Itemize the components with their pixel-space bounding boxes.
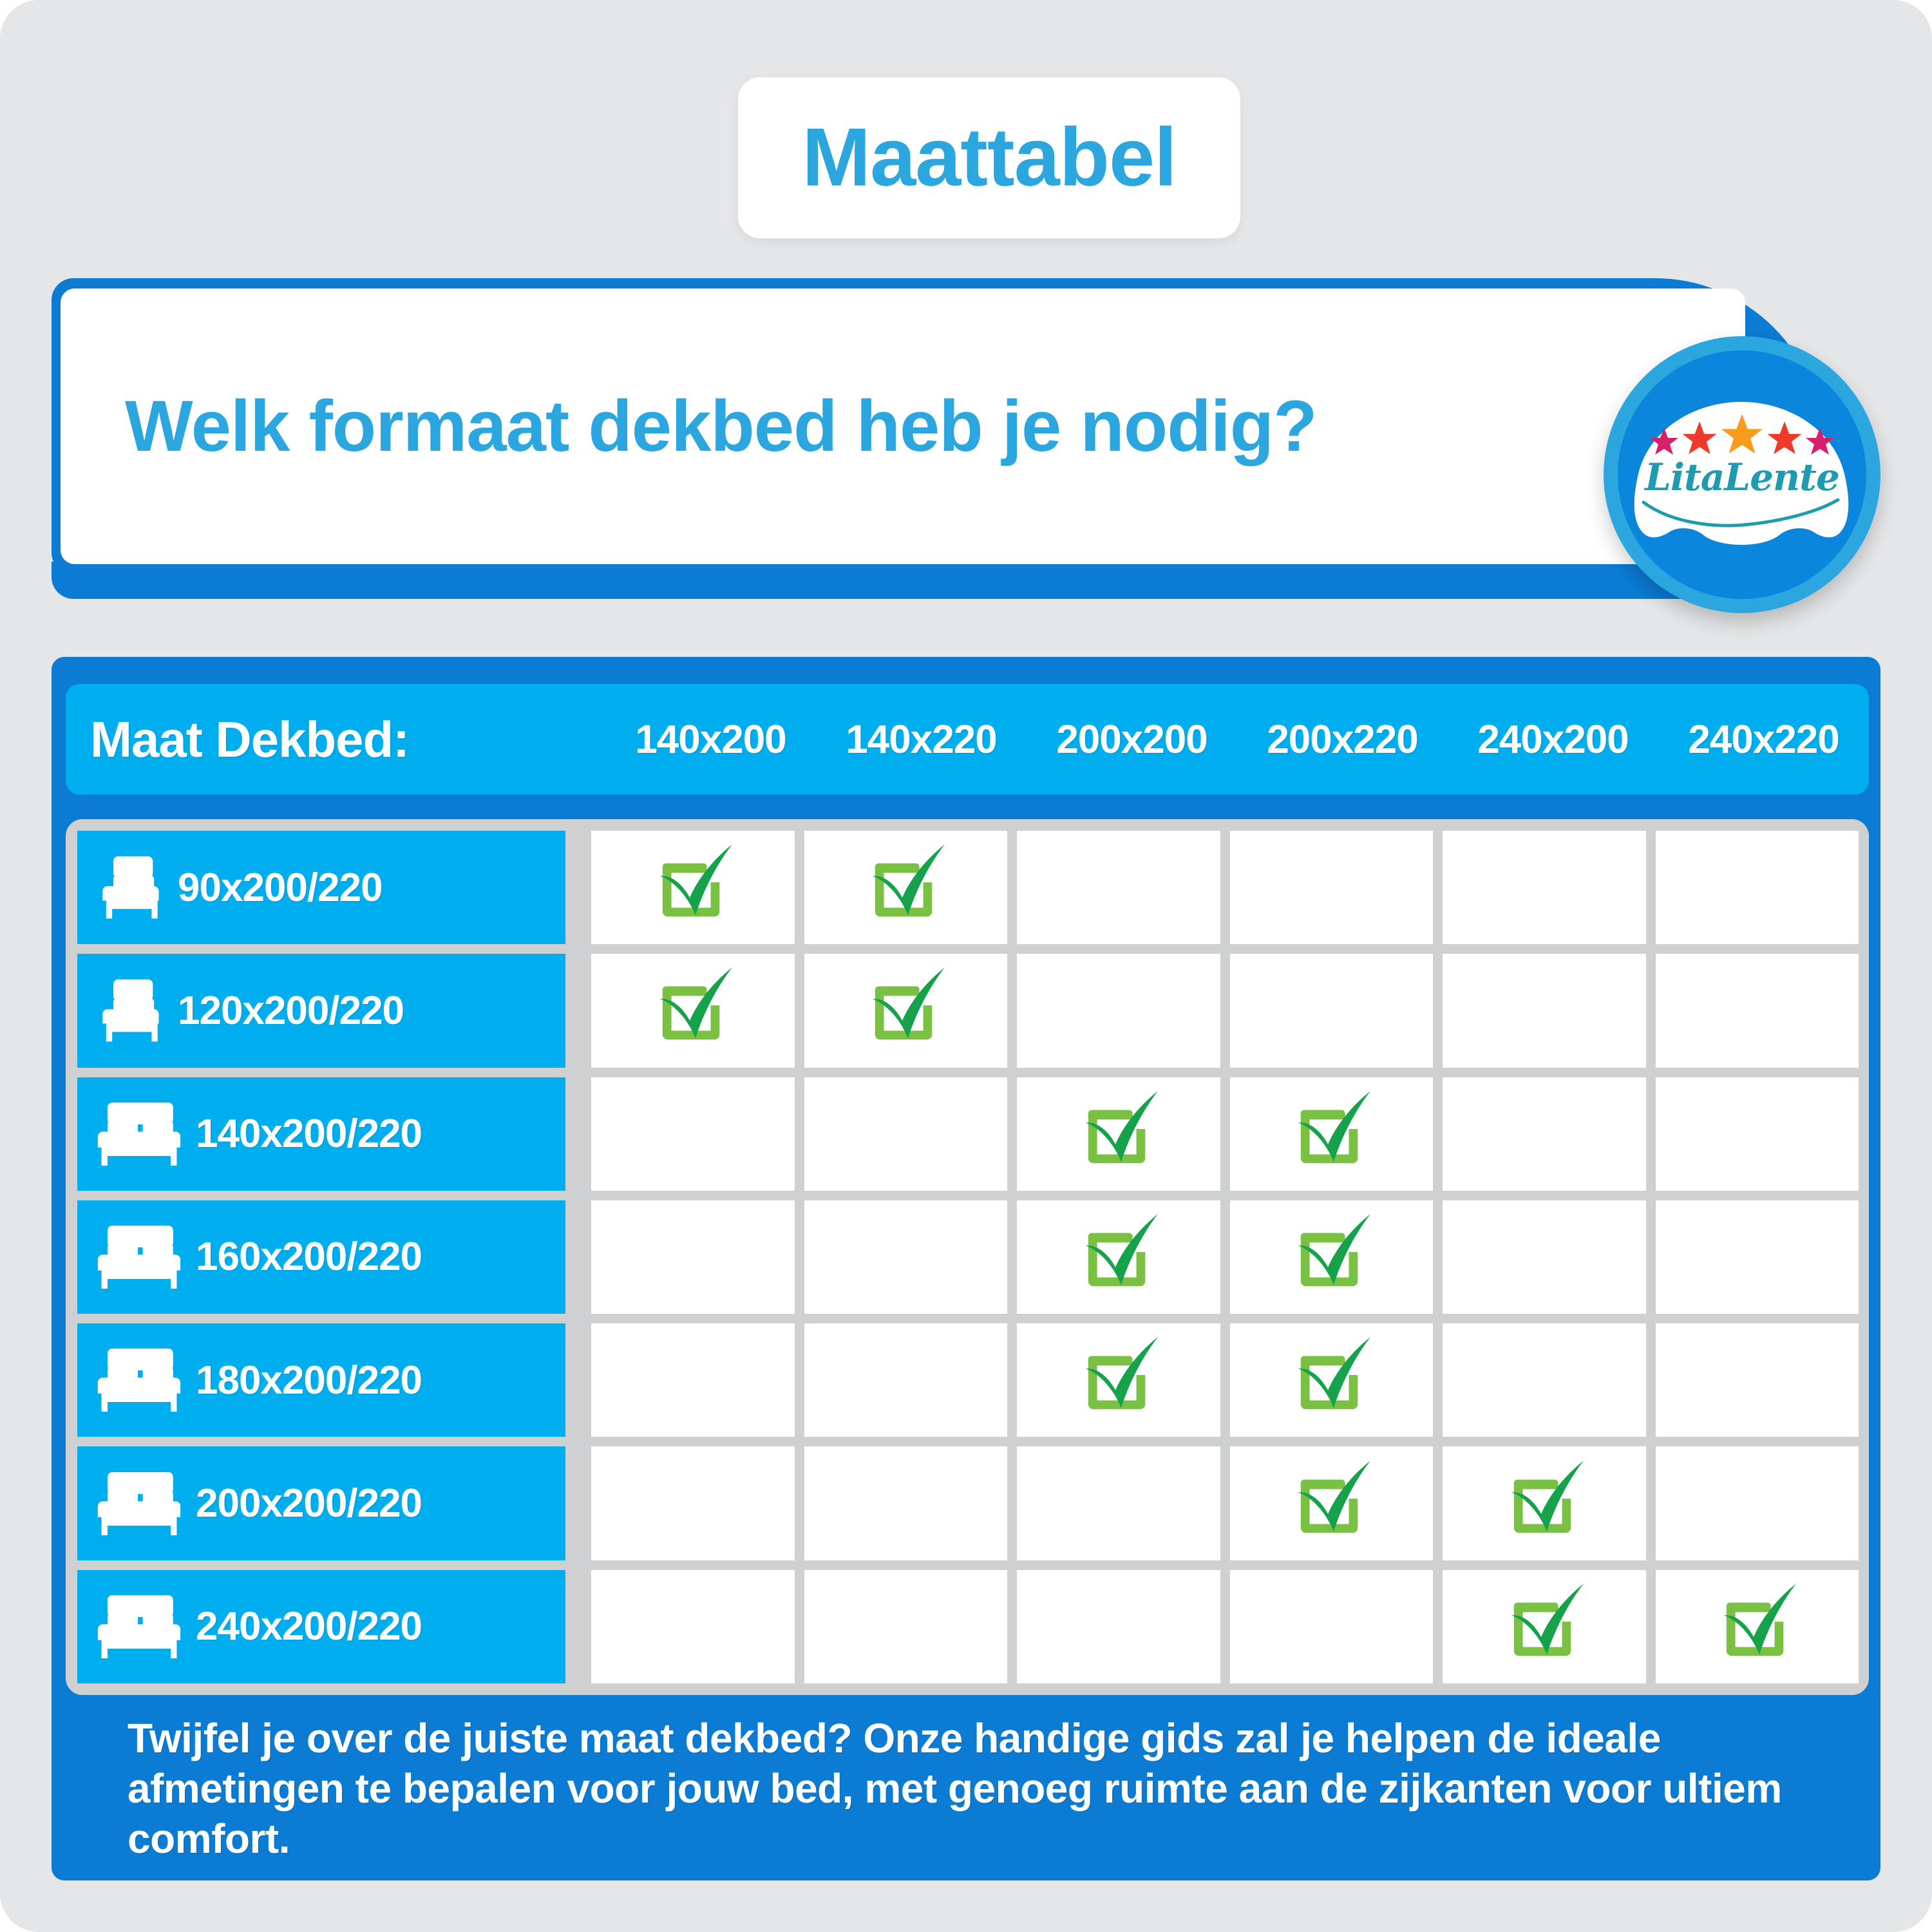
cell-180x200-220-240x200[interactable] (1443, 1323, 1646, 1437)
table-footer: Twijfel je over de juiste maat dekbed? O… (52, 1713, 1880, 1880)
double-bed-icon (97, 1469, 182, 1539)
five-star-rating-icon (1649, 412, 1835, 457)
double-bed-icon (97, 1222, 182, 1292)
cell-200x200-220-140x200[interactable] (591, 1446, 795, 1560)
checkmark-icon (655, 849, 731, 925)
table-row: 160x200/220 (77, 1200, 1859, 1314)
cell-120x200-220-240x200[interactable] (1443, 954, 1646, 1067)
checkmark-icon (1293, 1342, 1369, 1418)
banner-white-card: Welk formaat dekbed heb je nodig? (61, 289, 1745, 564)
cell-240x200-220-200x200[interactable] (1017, 1570, 1220, 1683)
checkmark-icon (1293, 1219, 1369, 1295)
cell-200x200-220-200x200[interactable] (1017, 1446, 1220, 1560)
cell-180x200-220-140x200[interactable] (591, 1323, 795, 1437)
single-bed-icon (97, 853, 164, 922)
row-label-text: 140x200/220 (196, 1111, 422, 1157)
cell-180x200-220-140x220[interactable] (804, 1323, 1008, 1437)
row-label-text: 160x200/220 (196, 1234, 422, 1280)
column-header-140x200: 140x200 (605, 717, 816, 762)
cell-140x200-220-200x220[interactable] (1230, 1077, 1434, 1191)
row-label-140x200-220: 140x200/220 (77, 1077, 565, 1191)
cell-200x200-220-240x200[interactable] (1443, 1446, 1646, 1560)
cell-140x200-220-140x220[interactable] (804, 1077, 1008, 1191)
row-label-text: 120x200/220 (178, 988, 404, 1034)
checkmark-icon (867, 849, 943, 925)
row-label-text: 200x200/220 (196, 1481, 422, 1526)
cell-160x200-220-140x200[interactable] (591, 1200, 795, 1314)
double-bed-icon (97, 1099, 182, 1169)
row-label-120x200-220: 120x200/220 (77, 954, 565, 1067)
cell-180x200-220-200x200[interactable] (1017, 1323, 1220, 1437)
cell-140x200-220-240x200[interactable] (1443, 1077, 1646, 1191)
row-label-200x200-220: 200x200/220 (77, 1446, 565, 1560)
checkmark-icon (1293, 1096, 1369, 1172)
checkmark-icon (1506, 1589, 1582, 1665)
row-cells (591, 1323, 1859, 1437)
row-label-180x200-220: 180x200/220 (77, 1323, 565, 1437)
column-header-200x200: 200x200 (1027, 717, 1237, 762)
cell-200x200-220-200x220[interactable] (1230, 1446, 1434, 1560)
table-row: 140x200/220 (77, 1077, 1859, 1191)
cell-140x200-220-200x200[interactable] (1017, 1077, 1220, 1191)
title-card: Maattabel (738, 77, 1240, 238)
cell-200x200-220-140x220[interactable] (804, 1446, 1008, 1560)
cell-120x200-220-200x200[interactable] (1017, 954, 1220, 1067)
row-label-text: 240x200/220 (196, 1604, 422, 1649)
infographic-page: Maattabel Welk formaat dekbed heb je nod… (0, 0, 1932, 1932)
row-cells (591, 1077, 1859, 1191)
cell-90x200-220-200x220[interactable] (1230, 831, 1434, 944)
page-title: Maattabel (802, 117, 1176, 199)
row-label-240x200-220: 240x200/220 (77, 1570, 565, 1683)
cell-90x200-220-240x200[interactable] (1443, 831, 1646, 944)
size-table-panel: Maat Dekbed: 140x200 140x220 200x200 200… (52, 657, 1880, 1880)
cell-140x200-220-240x220[interactable] (1656, 1077, 1859, 1191)
cell-120x200-220-240x220[interactable] (1656, 954, 1859, 1067)
table-body: 90x200/220 120x200/220 140x200/220 (66, 819, 1869, 1695)
cell-240x200-220-200x220[interactable] (1230, 1570, 1434, 1683)
table-row: 240x200/220 (77, 1570, 1859, 1683)
checkmark-icon (1293, 1466, 1369, 1542)
cell-240x200-220-240x220[interactable] (1656, 1570, 1859, 1683)
cell-120x200-220-140x220[interactable] (804, 954, 1008, 1067)
row-cells (591, 1446, 1859, 1560)
table-header-label: Maat Dekbed: (90, 710, 605, 769)
row-cells (591, 831, 1859, 944)
checkmark-icon (1081, 1219, 1157, 1295)
row-cells (591, 1570, 1859, 1683)
cell-240x200-220-240x200[interactable] (1443, 1570, 1646, 1683)
cell-140x200-220-140x200[interactable] (591, 1077, 795, 1191)
brand-badge: LitaLente (1604, 336, 1880, 613)
page-subtitle: Welk formaat dekbed heb je nodig? (125, 390, 1317, 462)
cell-160x200-220-200x220[interactable] (1230, 1200, 1434, 1314)
cell-120x200-220-200x220[interactable] (1230, 954, 1434, 1067)
double-bed-icon (97, 1345, 182, 1415)
cell-90x200-220-140x220[interactable] (804, 831, 1008, 944)
cell-240x200-220-140x200[interactable] (591, 1570, 795, 1683)
footer-text: Twijfel je over de juiste maat dekbed? O… (128, 1713, 1804, 1864)
cell-240x200-220-140x220[interactable] (804, 1570, 1008, 1683)
checkmark-icon (1719, 1589, 1795, 1665)
table-header-row: Maat Dekbed: 140x200 140x220 200x200 200… (66, 684, 1869, 795)
script-underline-swoosh (1641, 498, 1842, 529)
double-bed-icon (97, 1592, 182, 1662)
brand-name: LitaLente (1633, 459, 1851, 496)
column-header-200x220: 200x220 (1237, 717, 1448, 762)
cell-160x200-220-240x220[interactable] (1656, 1200, 1859, 1314)
row-label-text: 180x200/220 (196, 1358, 422, 1403)
single-bed-icon (97, 976, 164, 1045)
table-row: 90x200/220 (77, 831, 1859, 944)
row-label-text: 90x200/220 (178, 865, 383, 911)
table-row: 180x200/220 (77, 1323, 1859, 1437)
banner-ribbon-foot-shape (52, 562, 1745, 599)
checkmark-icon (1081, 1096, 1157, 1172)
cell-180x200-220-240x220[interactable] (1656, 1323, 1859, 1437)
cell-120x200-220-140x200[interactable] (591, 954, 795, 1067)
row-label-160x200-220: 160x200/220 (77, 1200, 565, 1314)
table-row: 200x200/220 (77, 1446, 1859, 1560)
cell-90x200-220-140x200[interactable] (591, 831, 795, 944)
row-cells (591, 1200, 1859, 1314)
cell-90x200-220-200x200[interactable] (1017, 831, 1220, 944)
row-label-90x200-220: 90x200/220 (77, 831, 565, 944)
cell-180x200-220-200x220[interactable] (1230, 1323, 1434, 1437)
checkmark-icon (655, 972, 731, 1048)
checkmark-icon (1081, 1342, 1157, 1418)
cell-160x200-220-140x220[interactable] (804, 1200, 1008, 1314)
checkmark-icon (1506, 1466, 1582, 1542)
table-row: 120x200/220 (77, 954, 1859, 1067)
cell-200x200-220-240x220[interactable] (1656, 1446, 1859, 1560)
cell-160x200-220-240x200[interactable] (1443, 1200, 1646, 1314)
row-cells (591, 954, 1859, 1067)
cell-90x200-220-240x220[interactable] (1656, 831, 1859, 944)
checkmark-icon (867, 972, 943, 1048)
column-header-240x220: 240x220 (1658, 717, 1869, 762)
table-header-columns: 140x200 140x220 200x200 200x220 240x200 … (605, 717, 1869, 762)
column-header-240x200: 240x200 (1448, 717, 1658, 762)
column-header-140x220: 140x220 (816, 717, 1027, 762)
cell-160x200-220-200x200[interactable] (1017, 1200, 1220, 1314)
